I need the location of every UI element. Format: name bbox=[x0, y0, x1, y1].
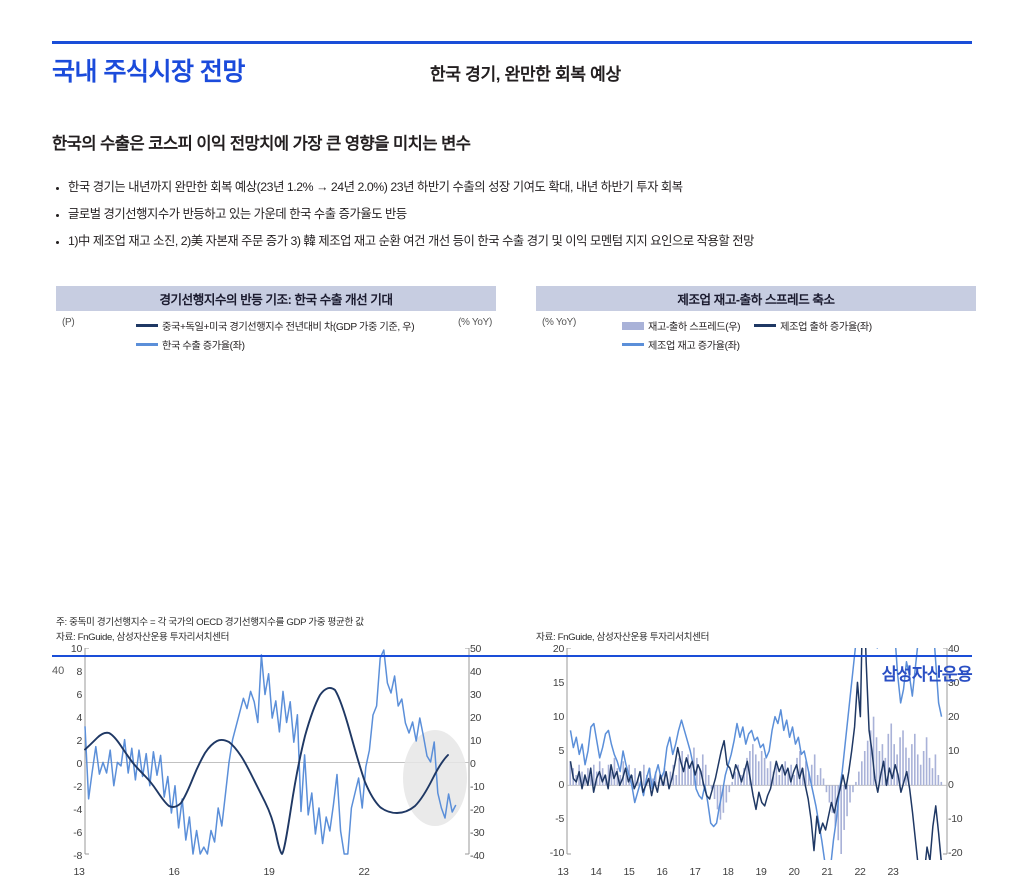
legend-line-swatch-blue bbox=[136, 343, 158, 346]
axis-unit-left: (% YoY) bbox=[542, 317, 576, 328]
bar bbox=[611, 772, 613, 786]
legend-bar-swatch bbox=[622, 322, 644, 330]
bar bbox=[779, 775, 781, 785]
bar bbox=[905, 748, 907, 786]
x-tick: 16 bbox=[159, 866, 189, 878]
bar bbox=[941, 782, 943, 785]
bar bbox=[734, 772, 736, 786]
x-tick: 21 bbox=[814, 866, 840, 878]
page-title: 국내 주식시장 전망 bbox=[52, 52, 245, 88]
note-left-2: 자료: FnGuide, 삼성자산운용 투자리서치센터 bbox=[56, 629, 229, 643]
y-tick-right: 50 bbox=[470, 643, 498, 655]
bar bbox=[761, 751, 763, 785]
bar bbox=[864, 751, 866, 785]
y-tick-right: 0 bbox=[948, 779, 976, 791]
y-tick-right: -20 bbox=[470, 804, 498, 816]
bar bbox=[717, 785, 719, 809]
axis-unit-left: (P) bbox=[62, 317, 74, 328]
bar bbox=[602, 768, 604, 785]
bar bbox=[920, 765, 922, 786]
y-tick-left: 2 bbox=[56, 735, 82, 747]
bar bbox=[764, 758, 766, 785]
page-number: 40 bbox=[52, 665, 64, 677]
bar bbox=[823, 778, 825, 785]
bar bbox=[899, 737, 901, 785]
legend-row: 재고-출하 스프레드(우) 제조업 출하 증가율(좌) bbox=[622, 318, 886, 333]
y-tick-right: -10 bbox=[470, 781, 498, 793]
bar bbox=[770, 761, 772, 785]
bar bbox=[758, 761, 760, 785]
legend-item-shipment: 제조업 출하 증가율(좌) bbox=[754, 318, 872, 333]
legend-label: 재고-출하 스프레드(우) bbox=[648, 318, 740, 333]
bar bbox=[799, 751, 801, 785]
y-tick-right: 30 bbox=[470, 689, 498, 701]
x-tick: 16 bbox=[649, 866, 675, 878]
brand-logo: 삼성자산운용 bbox=[882, 660, 972, 685]
chart-legend-left: 중국+독일+미국 경기선행지수 전년대비 차(GDP 가중 기준, 우) 한국 … bbox=[136, 318, 428, 356]
chart-title-left: 경기선행지수의 반등 기조: 한국 수출 개선 기대 bbox=[56, 286, 496, 311]
series-lei-diff bbox=[85, 688, 448, 854]
y-tick-right: 0 bbox=[470, 758, 498, 770]
bar bbox=[728, 785, 730, 792]
bar bbox=[846, 785, 848, 816]
bar bbox=[935, 754, 937, 785]
bar bbox=[911, 744, 913, 785]
legend-item-inventory: 제조업 재고 증가율(좌) bbox=[622, 337, 740, 352]
bar bbox=[855, 782, 857, 785]
y-tick-left: -5 bbox=[536, 813, 564, 825]
bar bbox=[926, 737, 928, 785]
bar bbox=[826, 785, 828, 792]
chart-plot-left bbox=[83, 648, 471, 860]
legend-label: 제조업 재고 증가율(좌) bbox=[648, 337, 740, 352]
y-tick-left: 10 bbox=[56, 643, 82, 655]
legend-row: 한국 수출 증가율(좌) bbox=[136, 337, 428, 352]
legend-label: 한국 수출 증가율(좌) bbox=[162, 337, 245, 352]
bar bbox=[634, 768, 636, 785]
x-tick: 13 bbox=[64, 866, 94, 878]
bar bbox=[593, 765, 595, 786]
series-korea-export bbox=[85, 650, 456, 854]
y-tick-right: 20 bbox=[948, 711, 976, 723]
footer-rule bbox=[52, 655, 972, 657]
legend-line-swatch-navy bbox=[136, 324, 158, 327]
bar bbox=[914, 734, 916, 786]
slide: 국내 주식시장 전망 한국 경기, 완만한 회복 예상 한국의 수출은 코스피 … bbox=[0, 0, 1024, 709]
x-tick: 19 bbox=[254, 866, 284, 878]
bar bbox=[843, 785, 845, 830]
bar bbox=[820, 768, 822, 785]
axis-unit-right: (% YoY) bbox=[458, 317, 492, 328]
legend-item-lei: 중국+독일+미국 경기선행지수 전년대비 차(GDP 가중 기준, 우) bbox=[136, 318, 414, 333]
y-tick-left: 20 bbox=[536, 643, 564, 655]
x-tick: 19 bbox=[748, 866, 774, 878]
x-tick: 23 bbox=[880, 866, 906, 878]
list-item: 한국 경기는 내년까지 완만한 회복 예상(23년 1.2% → 24년 2.0… bbox=[56, 180, 996, 195]
y-tick-right: -10 bbox=[948, 813, 976, 825]
y-tick-left: 6 bbox=[56, 689, 82, 701]
y-tick-left: 0 bbox=[536, 779, 564, 791]
y-tick-left: 15 bbox=[536, 677, 564, 689]
bar bbox=[781, 768, 783, 785]
bar bbox=[938, 775, 940, 785]
bar bbox=[643, 765, 645, 786]
bar bbox=[929, 758, 931, 785]
bar bbox=[849, 785, 851, 802]
header-rule bbox=[52, 41, 972, 44]
y-tick-left: -2 bbox=[56, 781, 82, 793]
y-tick-left: -6 bbox=[56, 827, 82, 839]
bar bbox=[917, 754, 919, 785]
bar bbox=[690, 765, 692, 786]
note-left-1: 주: 중독미 경기선행지수 = 각 국가의 OECD 경기선행지수를 GDP 가… bbox=[56, 614, 364, 628]
y-tick-right: 10 bbox=[948, 745, 976, 757]
y-tick-right: -30 bbox=[470, 827, 498, 839]
bar bbox=[876, 737, 878, 785]
x-tick: 17 bbox=[682, 866, 708, 878]
list-item: 글로벌 경기선행지수가 반등하고 있는 가운데 한국 수출 증가율도 반등 bbox=[56, 207, 996, 222]
bar bbox=[705, 765, 707, 786]
legend-line-swatch-navy bbox=[754, 324, 776, 327]
x-tick: 13 bbox=[550, 866, 576, 878]
bar bbox=[923, 751, 925, 785]
bar bbox=[726, 785, 728, 802]
bar bbox=[814, 754, 816, 785]
bar bbox=[932, 768, 934, 785]
list-item: 1)中 제조업 재고 소진, 2)美 자본재 주문 증가 3) 韓 제조업 재고… bbox=[56, 234, 996, 249]
page-subtitle: 한국 경기, 완만한 회복 예상 bbox=[430, 60, 621, 85]
x-tick: 22 bbox=[349, 866, 379, 878]
bullet-list: 한국 경기는 내년까지 완만한 회복 예상(23년 1.2% → 24년 2.0… bbox=[56, 180, 996, 260]
x-tick: 15 bbox=[616, 866, 642, 878]
bar bbox=[755, 754, 757, 785]
bar bbox=[731, 782, 733, 785]
x-tick: 20 bbox=[781, 866, 807, 878]
bar bbox=[614, 758, 616, 785]
x-tick: 18 bbox=[715, 866, 741, 878]
bar bbox=[902, 730, 904, 785]
y-tick-right: -40 bbox=[470, 850, 498, 862]
y-tick-left: 4 bbox=[56, 712, 82, 724]
y-tick-right: 40 bbox=[470, 666, 498, 678]
y-tick-right: 20 bbox=[470, 712, 498, 724]
x-tick: 22 bbox=[847, 866, 873, 878]
x-tick: 14 bbox=[583, 866, 609, 878]
y-tick-right: 10 bbox=[470, 735, 498, 747]
y-tick-left: 5 bbox=[536, 745, 564, 757]
y-tick-left: 0 bbox=[56, 758, 82, 770]
y-tick-left: 10 bbox=[536, 711, 564, 723]
y-tick-left: -8 bbox=[56, 850, 82, 862]
y-tick-left: -10 bbox=[536, 847, 564, 859]
bar bbox=[675, 775, 677, 785]
legend-line-swatch-blue bbox=[622, 343, 644, 346]
chart-legend-right: 재고-출하 스프레드(우) 제조업 출하 증가율(좌) 제조업 재고 증가율(좌… bbox=[622, 318, 886, 356]
legend-row: 제조업 재고 증가율(좌) bbox=[622, 337, 886, 352]
bar bbox=[708, 775, 710, 785]
bar bbox=[852, 785, 854, 792]
bar bbox=[714, 785, 716, 799]
bar bbox=[678, 758, 680, 785]
bar bbox=[752, 744, 754, 785]
legend-item-spread: 재고-출하 스프레드(우) bbox=[622, 318, 740, 333]
bar bbox=[829, 785, 831, 802]
bar bbox=[793, 775, 795, 785]
bar bbox=[776, 765, 778, 786]
chart-panel-right: 제조업 재고-출하 스프레드 축소 (% YoY) 재고-출하 스프레드(우) … bbox=[536, 286, 976, 616]
bar bbox=[867, 741, 869, 786]
y-tick-right: -20 bbox=[948, 847, 976, 859]
bar bbox=[858, 772, 860, 786]
bar bbox=[840, 785, 842, 854]
legend-label: 중국+독일+미국 경기선행지수 전년대비 차(GDP 가중 기준, 우) bbox=[162, 318, 414, 333]
y-tick-right: 40 bbox=[948, 643, 976, 655]
bar bbox=[817, 775, 819, 785]
bar bbox=[767, 768, 769, 785]
legend-label: 제조업 출하 증가율(좌) bbox=[780, 318, 872, 333]
legend-item-korea-export: 한국 수출 증가율(좌) bbox=[136, 337, 245, 352]
note-right-1: 자료: FnGuide, 삼성자산운용 투자리서치센터 bbox=[536, 629, 709, 643]
lead-statement: 한국의 수출은 코스피 이익 전망치에 가장 큰 영향을 미치는 변수 bbox=[52, 130, 470, 154]
chart-panel-left: 경기선행지수의 반등 기조: 한국 수출 개선 기대 (P) (% YoY) 중… bbox=[56, 286, 496, 616]
legend-row: 중국+독일+미국 경기선행지수 전년대비 차(GDP 가중 기준, 우) bbox=[136, 318, 428, 333]
chart-title-right: 제조업 재고-출하 스프레드 축소 bbox=[536, 286, 976, 311]
y-tick-left: -4 bbox=[56, 804, 82, 816]
bar bbox=[861, 761, 863, 785]
